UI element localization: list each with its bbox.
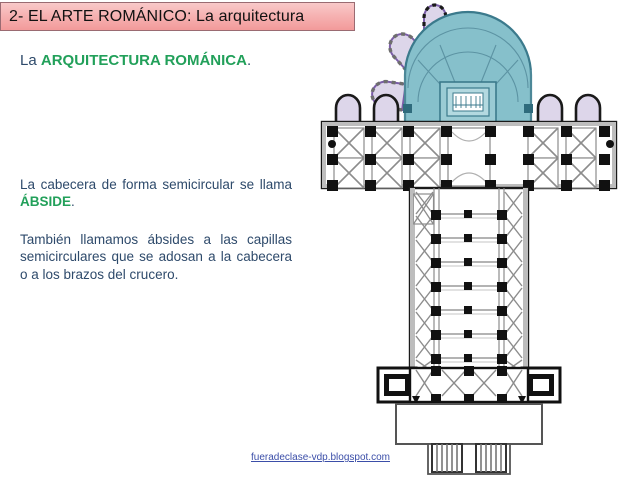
paragraph-apse-definition: La cabecera de forma semicircular se lla… <box>20 176 292 212</box>
lead-suffix: . <box>247 52 251 69</box>
transept-chapel-3 <box>538 95 562 124</box>
narthex-porch <box>396 404 542 474</box>
paragraph-radiating-chapels: También llamamos ábsides a las capillas … <box>20 231 292 284</box>
nave-group <box>410 188 528 373</box>
apse-body <box>403 12 533 122</box>
crossing-square <box>448 128 490 186</box>
paragraph-1-after: . <box>71 194 75 209</box>
paragraph-1-highlight: ÁBSIDE <box>20 194 71 209</box>
paragraph-2-before: También llamamos ábsides a las capillas … <box>20 232 292 283</box>
sanctuary-altar <box>440 82 496 122</box>
west-facade-group <box>378 366 560 474</box>
lead-statement: La ARQUITECTURA ROMÁNICA. <box>20 52 292 69</box>
lead-prefix: La <box>20 52 41 69</box>
text-column: La ARQUITECTURA ROMÁNICA. La cabecera de… <box>20 52 292 69</box>
lead-highlight: ARQUITECTURA ROMÁNICA <box>41 52 247 69</box>
plan-geometry <box>322 5 616 474</box>
page-title: 2- EL ARTE ROMÁNICO: La arquitectura <box>9 8 304 26</box>
transept-chapel-4 <box>576 95 600 124</box>
cathedral-floor-plan-diagram <box>300 0 638 479</box>
transept-chapel-2 <box>374 95 398 124</box>
transept-chapel-1 <box>336 95 360 124</box>
paragraph-1-before: La cabecera de forma semicircular se lla… <box>20 177 292 192</box>
